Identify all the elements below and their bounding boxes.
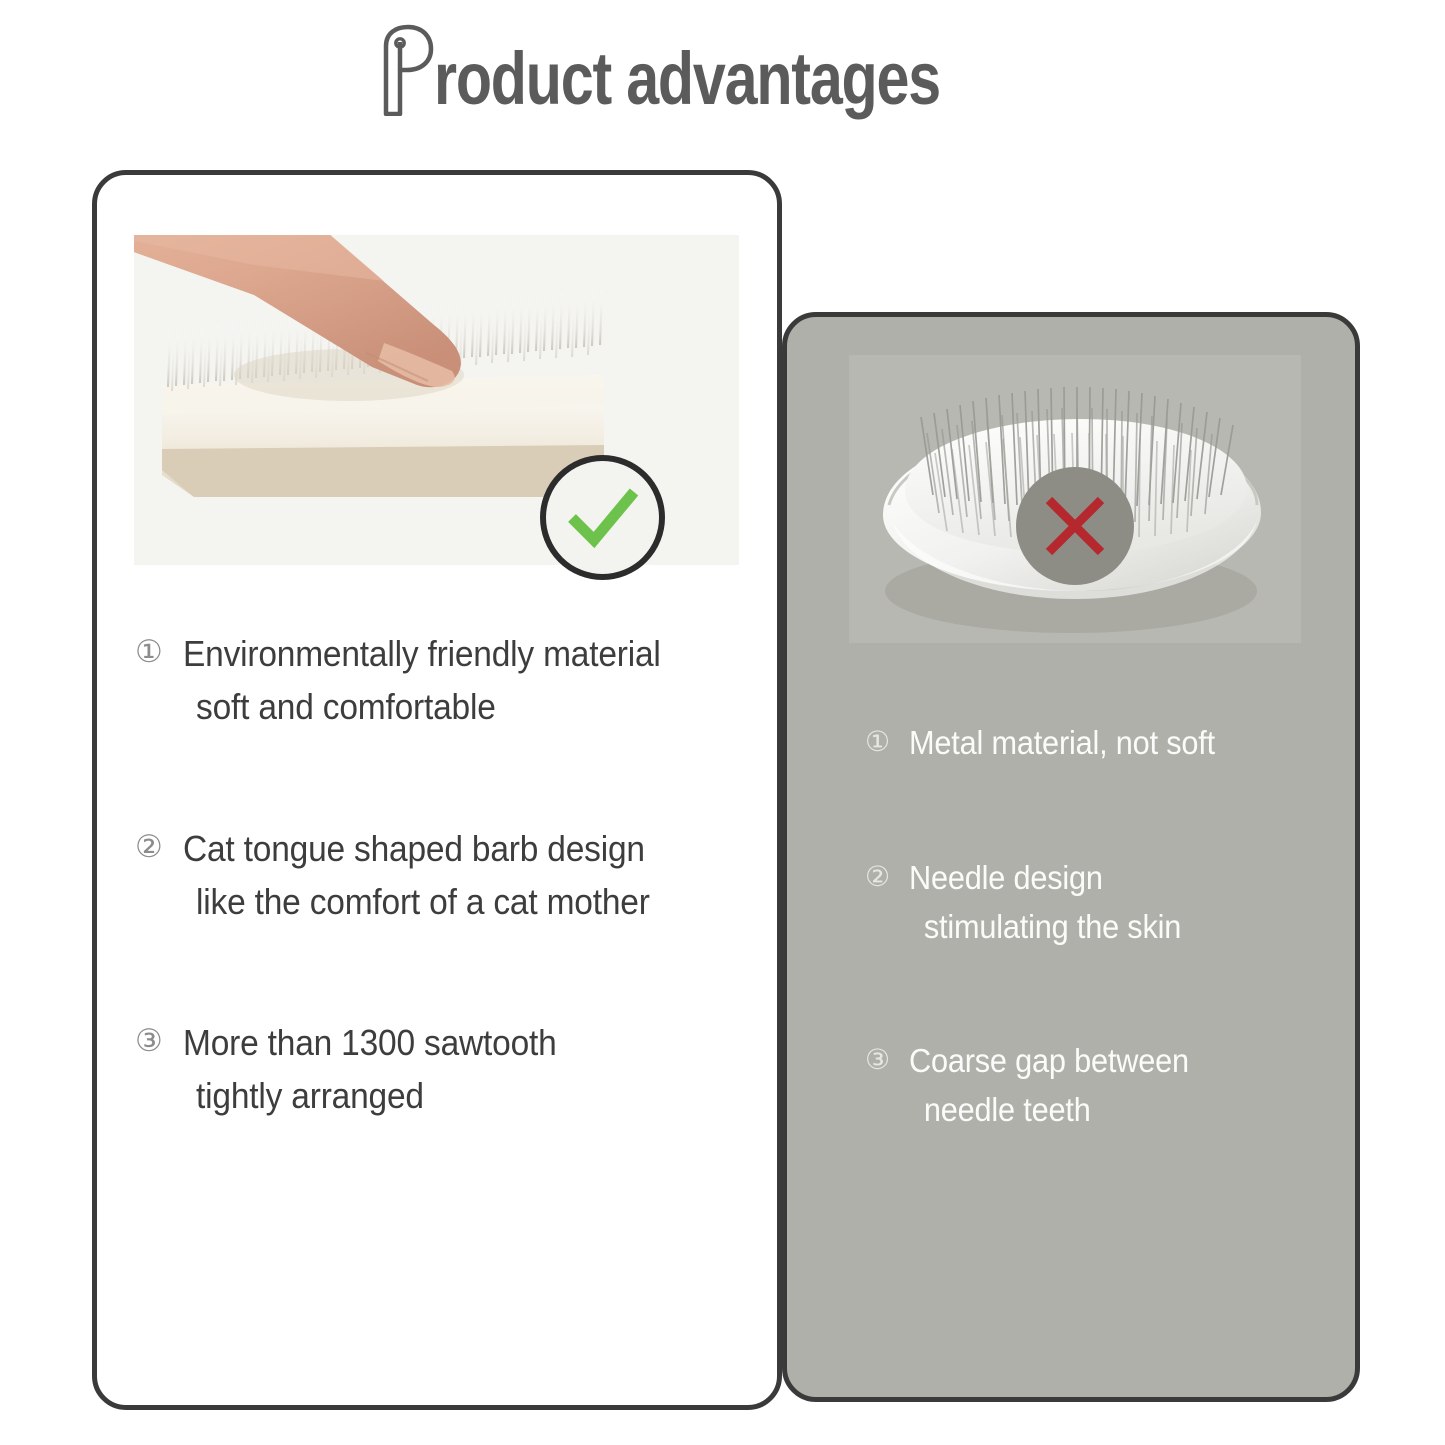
check-mark-icon bbox=[564, 482, 642, 554]
list-item-number: ③ bbox=[135, 1018, 183, 1064]
list-item-label: More than 1300 sawtoothtightly arranged bbox=[183, 1016, 715, 1123]
list-item-label: Environmentally friendly materialsoft an… bbox=[183, 627, 715, 734]
check-badge bbox=[540, 455, 665, 580]
list-item: ③ More than 1300 sawtoothtightly arrange… bbox=[135, 1016, 755, 1123]
list-item-number: ① bbox=[135, 629, 183, 675]
list-item-label: Metal material, not soft bbox=[909, 719, 1305, 768]
list-item-number: ③ bbox=[865, 1039, 909, 1080]
page-title: roduct advantages bbox=[0, 24, 1445, 116]
list-item: ① Metal material, not soft bbox=[865, 719, 1335, 768]
list-item-label: Coarse gap betweenneedle teeth bbox=[909, 1037, 1305, 1135]
list-item: ③ Coarse gap betweenneedle teeth bbox=[865, 1037, 1335, 1135]
good-feature-list: ① Environmentally friendly materialsoft … bbox=[135, 627, 755, 1211]
advantage-panel-bad: ① Metal material, not soft ② Needle desi… bbox=[782, 312, 1360, 1402]
decorative-p-letter-icon bbox=[378, 24, 436, 116]
list-item: ① Environmentally friendly materialsoft … bbox=[135, 627, 755, 734]
list-item-label: Needle designstimulating the skin bbox=[909, 854, 1305, 952]
page-title-text: roduct advantages bbox=[434, 42, 940, 116]
cross-mark-icon bbox=[1039, 490, 1111, 562]
list-item-label: Cat tongue shaped barb designlike the co… bbox=[183, 822, 715, 929]
list-item-number: ① bbox=[865, 721, 909, 762]
list-item-number: ② bbox=[865, 856, 909, 897]
list-item-number: ② bbox=[135, 824, 183, 870]
list-item: ② Needle designstimulating the skin bbox=[865, 854, 1335, 952]
list-item: ② Cat tongue shaped barb designlike the … bbox=[135, 822, 755, 929]
bad-feature-list: ① Metal material, not soft ② Needle desi… bbox=[865, 719, 1335, 1221]
advantage-panel-good: ① Environmentally friendly materialsoft … bbox=[92, 170, 782, 1410]
cross-badge bbox=[1016, 467, 1134, 585]
